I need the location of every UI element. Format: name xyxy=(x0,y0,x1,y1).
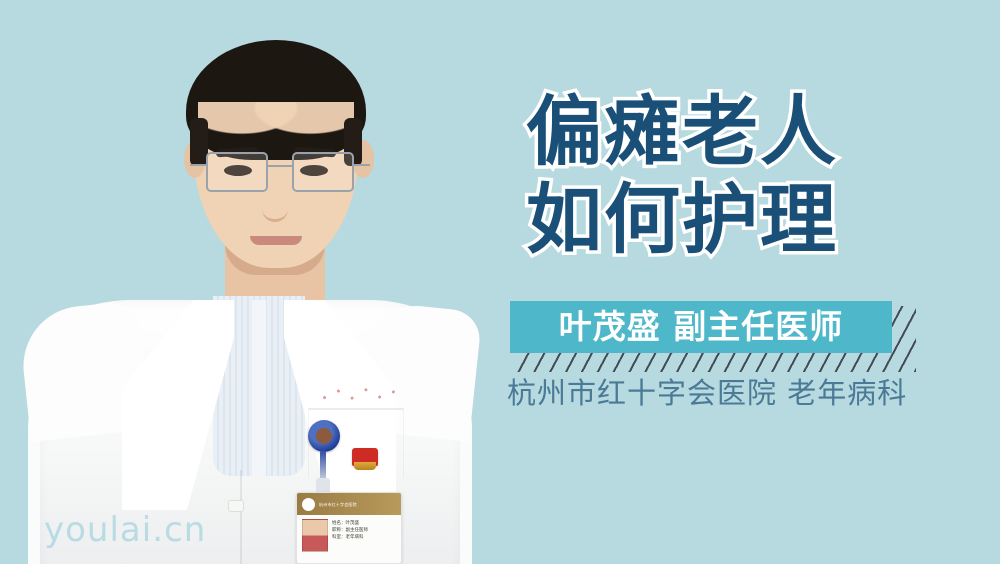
shirt-placket xyxy=(252,300,266,476)
title-line-1: 偏瘫老人 xyxy=(512,88,932,176)
id-card-header: 杭州市红十字会医院 xyxy=(297,493,401,515)
presenter-name-title: 叶茂盛 副主任医师 xyxy=(559,309,844,345)
hospital-department-label: 杭州市红十字会医院 老年病科 xyxy=(507,375,907,411)
id-card-field: 职称：副主任医师 xyxy=(332,526,396,533)
coat-embroidery xyxy=(316,382,402,408)
hospital-logo-icon xyxy=(302,498,315,511)
coat-button xyxy=(228,500,244,512)
eyeglasses-icon xyxy=(206,152,354,194)
party-emblem-pin-icon xyxy=(352,448,378,466)
glasses-lens-left xyxy=(206,152,268,192)
badge-reel-icon xyxy=(308,420,340,452)
doctor-portrait-photo: 杭州市红十字会医院 姓名：叶茂盛 职称：副主任医师 科室：老年病科 xyxy=(0,0,500,564)
id-card-header-text: 杭州市红十字会医院 xyxy=(319,502,357,507)
id-card-field: 科室：老年病科 xyxy=(332,533,396,540)
coat-seam xyxy=(240,470,242,564)
page-title: 偏瘫老人 如何护理 xyxy=(512,88,932,264)
glasses-temple-left xyxy=(190,164,206,166)
glasses-temple-right xyxy=(354,164,370,166)
presenter-banner: 叶茂盛 副主任医师 xyxy=(510,301,892,353)
video-thumbnail-poster: 杭州市红十字会医院 姓名：叶茂盛 职称：副主任医师 科室：老年病科 xyxy=(0,0,1000,564)
glasses-bridge xyxy=(268,165,292,167)
id-card-field: 姓名：叶茂盛 xyxy=(332,519,396,526)
hospital-id-card: 杭州市红十字会医院 姓名：叶茂盛 职称：副主任医师 科室：老年病科 xyxy=(296,492,402,564)
id-card-photo xyxy=(302,519,328,552)
nose xyxy=(262,196,288,222)
mouth xyxy=(250,236,302,245)
title-line-2: 如何护理 xyxy=(512,176,932,264)
id-card-body: 姓名：叶茂盛 职称：副主任医师 科室：老年病科 xyxy=(297,515,401,556)
glasses-lens-right xyxy=(292,152,354,192)
id-card-fields: 姓名：叶茂盛 职称：副主任医师 科室：老年病科 xyxy=(332,519,396,552)
